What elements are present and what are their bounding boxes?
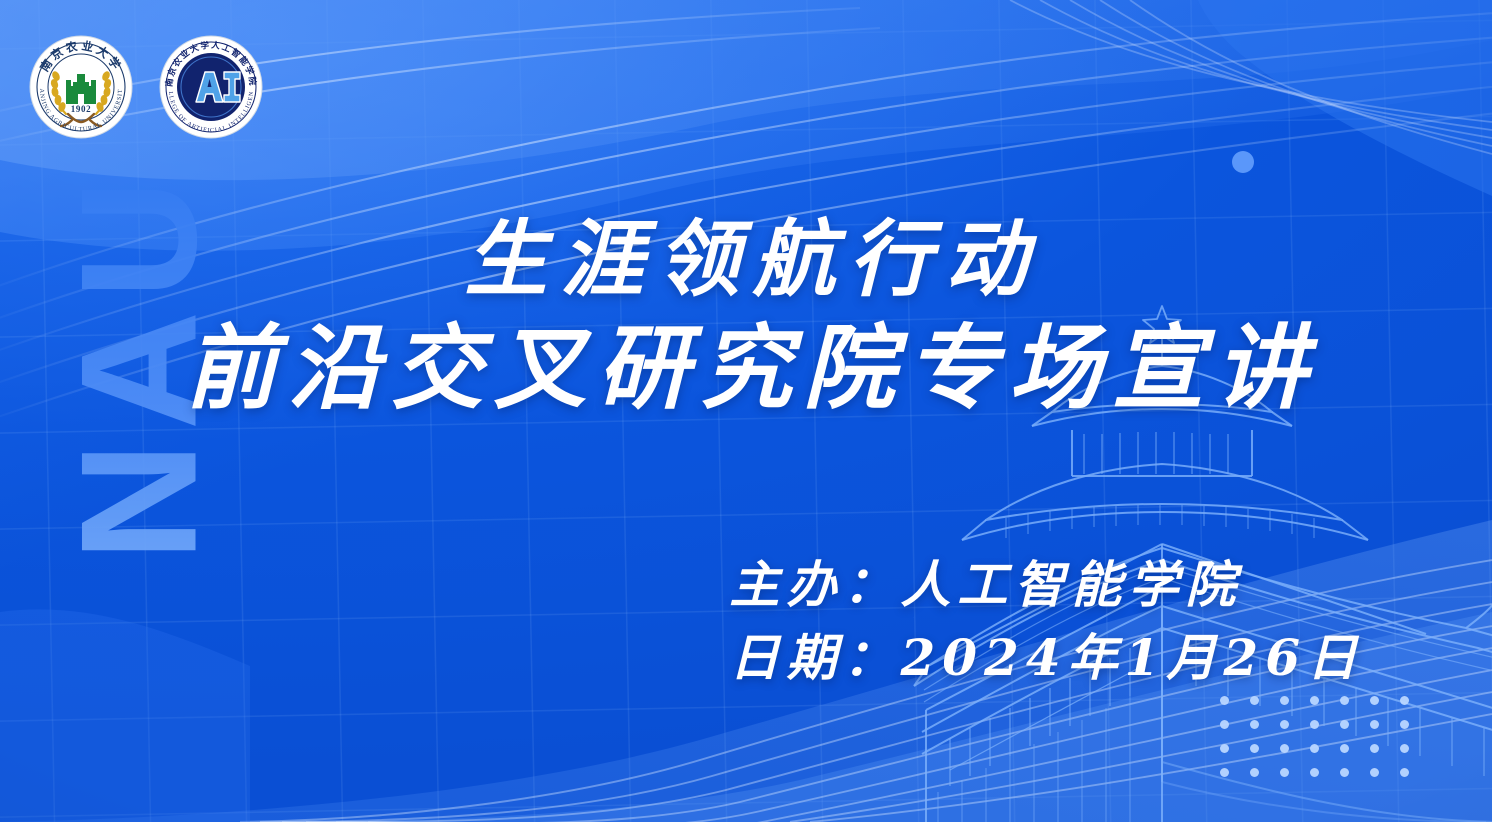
matrix-dot <box>1340 744 1349 753</box>
matrix-dot <box>1400 696 1409 705</box>
matrix-dot <box>1280 768 1289 777</box>
matrix-dot <box>1340 720 1349 729</box>
matrix-dot <box>1400 744 1409 753</box>
matrix-dot <box>1370 744 1379 753</box>
matrix-dot <box>1250 768 1259 777</box>
dot-matrix-decoration <box>1220 696 1430 792</box>
accent-dot <box>1232 151 1254 173</box>
matrix-dot <box>1310 744 1319 753</box>
matrix-dot <box>1220 720 1229 729</box>
matrix-dot <box>1280 696 1289 705</box>
matrix-dot <box>1220 744 1229 753</box>
matrix-dot <box>1220 696 1229 705</box>
matrix-dot <box>1250 744 1259 753</box>
matrix-dot <box>1310 720 1319 729</box>
matrix-dot <box>1370 696 1379 705</box>
matrix-dot <box>1400 720 1409 729</box>
college-of-artificial-intelligence-logo: 南京农业大学人工智能学院 COLLEGE OF ARTIFICIAL INTEL… <box>158 34 264 140</box>
poster-slide: NAU <box>0 0 1492 822</box>
matrix-dot <box>1250 720 1259 729</box>
matrix-dot <box>1280 744 1289 753</box>
nau-watermark: NAU <box>57 130 222 600</box>
nanjing-agricultural-university-logo: 1902 南京农业大学 NANJING AGRICULTURAL UNIVERS… <box>28 34 134 140</box>
matrix-dot <box>1370 768 1379 777</box>
matrix-dot <box>1220 768 1229 777</box>
matrix-dot <box>1370 720 1379 729</box>
matrix-dot <box>1310 696 1319 705</box>
matrix-dot <box>1250 696 1259 705</box>
matrix-dot <box>1340 768 1349 777</box>
matrix-dot <box>1340 696 1349 705</box>
matrix-dot <box>1310 768 1319 777</box>
logo-group: 1902 南京农业大学 NANJING AGRICULTURAL UNIVERS… <box>28 34 264 140</box>
matrix-dot <box>1280 720 1289 729</box>
matrix-dot <box>1400 768 1409 777</box>
svg-text:1902: 1902 <box>71 104 91 114</box>
